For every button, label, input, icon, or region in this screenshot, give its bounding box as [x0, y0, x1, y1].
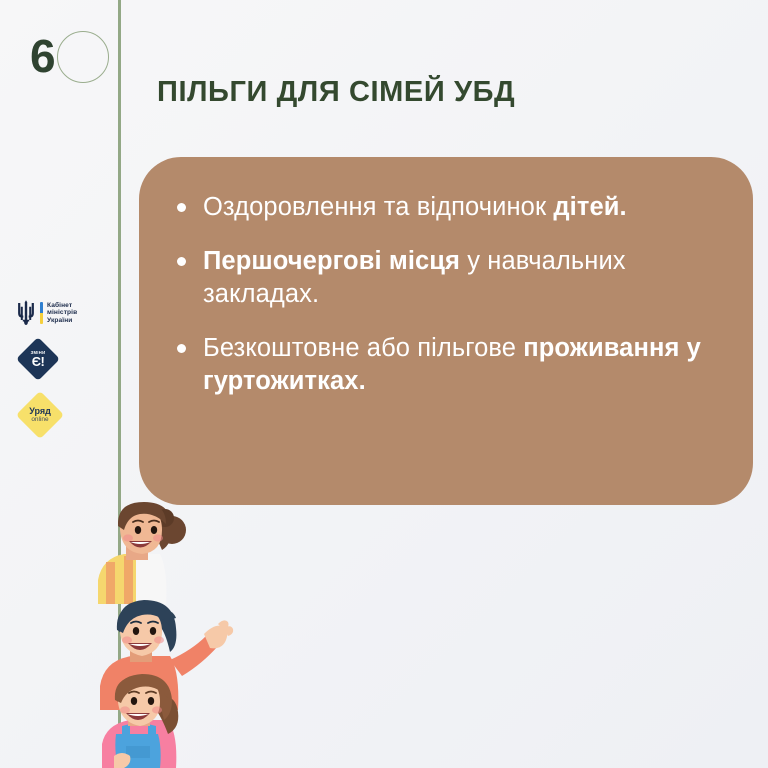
cabmin-line-3: України: [47, 317, 77, 325]
three-children-peeking-icon: [96, 500, 276, 768]
bullet-text-bold: Першочергові місця: [203, 247, 460, 275]
list-item: Безкоштовне або пільгове проживання у гу…: [173, 332, 723, 398]
ukraine-flag-bar-icon: [40, 302, 43, 324]
zminy-ye-content: ЗМІНИ Є!: [16, 337, 60, 381]
child-girl-bun: [98, 502, 186, 604]
bullet-text-normal-before: Оздоровлення та відпочинок: [203, 193, 553, 221]
cabinet-of-ministers-label: Кабінет міністрів України: [47, 302, 77, 325]
page-number: 6: [30, 27, 55, 85]
logo-zminy-ye[interactable]: ЗМІНИ Є!: [16, 337, 60, 381]
logo-cabinet-of-ministers[interactable]: Кабінет міністрів України: [16, 300, 116, 326]
ukraine-trident-icon: [16, 300, 36, 326]
zminy-big-label: Є!: [32, 355, 45, 368]
bullet-text-bold: дітей.: [553, 193, 626, 221]
page-number-circle-icon: [57, 31, 109, 83]
logo-stack: Кабінет міністрів України ЗМІНИ Є! Уряд …: [16, 300, 116, 449]
list-item: Першочергові місця у навчальних закладах…: [173, 245, 723, 311]
page-title: ПІЛЬГИ ДЛЯ СІМЕЙ УБД: [157, 76, 515, 109]
bullet-dot-icon: [177, 344, 186, 353]
logo-uryad-online[interactable]: Уряд online: [16, 392, 64, 438]
bullet-dot-icon: [177, 257, 186, 266]
bullet-dot-icon: [177, 203, 186, 212]
slide-root: 6 Кабінет: [0, 0, 768, 768]
list-item: Оздоровлення та відпочинок дітей.: [173, 191, 723, 224]
children-illustration: [96, 500, 276, 768]
page-number-group: 6: [30, 28, 106, 84]
uryad-big-label: Уряд: [29, 406, 51, 416]
uryad-online-content: Уряд online: [16, 392, 64, 438]
uryad-small-label: online: [31, 416, 48, 424]
benefits-card: Оздоровлення та відпочинок дітей. Першоч…: [139, 157, 753, 505]
bullet-text-normal-before: Безкоштовне або пільгове: [203, 334, 523, 362]
cabmin-line-2: міністрів: [47, 309, 77, 317]
